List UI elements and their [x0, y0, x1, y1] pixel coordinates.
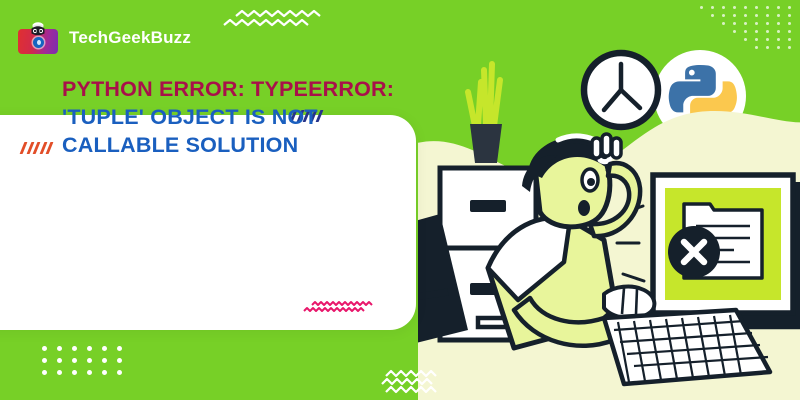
dot — [72, 358, 77, 363]
dot — [42, 346, 47, 351]
dot — [102, 346, 107, 351]
dot — [117, 346, 122, 351]
dot — [102, 370, 107, 375]
dot — [87, 370, 92, 375]
dot — [57, 358, 62, 363]
techgeekbuzz-mascot-logo — [18, 22, 58, 54]
title-line-2: 'TUPLE' OBJECT IS NOT — [62, 104, 430, 132]
wall-clock — [584, 53, 658, 127]
dot — [42, 358, 47, 363]
frustrated-developer-at-computer — [418, 0, 800, 400]
dot — [72, 346, 77, 351]
error-x-icon — [668, 226, 720, 278]
title-line-3: CALLABLE SOLUTION — [62, 132, 430, 160]
orange-diagonal-slashes — [22, 142, 51, 154]
page-title: PYTHON ERROR: TYPEERROR: 'TUPLE' OBJECT … — [62, 76, 430, 160]
dot — [117, 358, 122, 363]
dot — [72, 370, 77, 375]
logo-badge-icon — [33, 37, 44, 48]
logo-mascot-icon — [29, 22, 47, 38]
potted-plant — [468, 64, 502, 163]
dot — [87, 358, 92, 363]
dot — [117, 370, 122, 375]
banner-canvas: TechGeekBuzz — [0, 0, 800, 400]
title-line-1: PYTHON ERROR: TYPEERROR: — [62, 76, 430, 104]
bottom-left-dot-grid — [42, 346, 134, 384]
dot — [57, 346, 62, 351]
brand-logo-group[interactable]: TechGeekBuzz — [18, 22, 191, 54]
top-zigzag-decoration — [218, 8, 333, 34]
brand-name: TechGeekBuzz — [69, 28, 191, 48]
dot — [87, 346, 92, 351]
dot — [57, 370, 62, 375]
dot — [102, 358, 107, 363]
dot — [42, 370, 47, 375]
